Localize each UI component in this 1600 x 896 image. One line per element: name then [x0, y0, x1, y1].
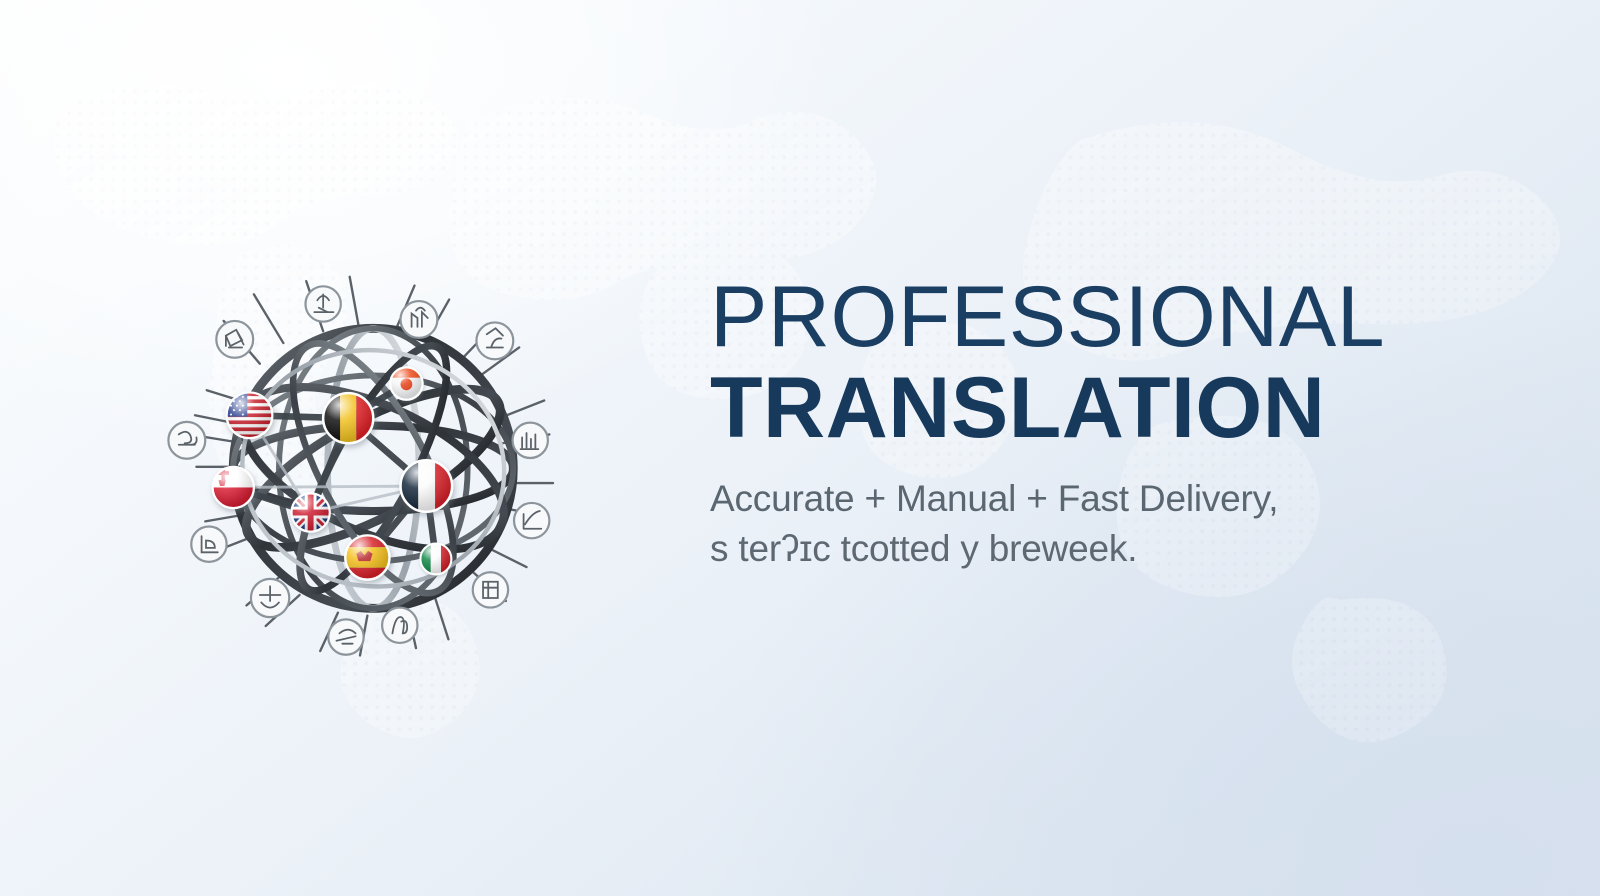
glyph-icon-6[interactable]	[514, 503, 549, 538]
globe-svg	[60, 150, 660, 710]
flag-uk[interactable]	[291, 493, 329, 531]
page-title-line-1: PROFESSIONAL	[710, 276, 1410, 359]
glyph-icon-8[interactable]	[382, 608, 417, 643]
flag-usa[interactable]	[227, 392, 273, 438]
subtitle: Accurate + Manual + Fast Delivery, s ter…	[710, 474, 1410, 574]
glyph-icon-9[interactable]	[328, 619, 363, 654]
globe-illustration	[60, 150, 660, 710]
headline-block: PROFESSIONAL TRANSLATION Accurate + Manu…	[710, 276, 1410, 574]
glyph-icon-7[interactable]	[473, 572, 508, 607]
glyph-icon-10[interactable]	[251, 579, 289, 617]
glyph-icon-2[interactable]	[305, 286, 340, 321]
glyph-icon-1[interactable]	[216, 321, 253, 358]
page-title-line-2: TRANSLATION	[710, 365, 1410, 453]
glyph-icon-12[interactable]	[168, 422, 205, 459]
subtitle-line-1: Accurate + Manual + Fast Delivery,	[710, 474, 1410, 524]
flag-japan[interactable]	[390, 367, 422, 399]
banner-root: PROFESSIONAL TRANSLATION Accurate + Manu…	[0, 0, 1600, 896]
glyph-icon-3[interactable]	[401, 301, 438, 338]
glyph-icon-4[interactable]	[476, 322, 513, 359]
flag-france[interactable]	[401, 460, 453, 512]
glyph-icon-5[interactable]	[513, 423, 548, 458]
flag-belgium[interactable]	[323, 393, 373, 443]
flag-spain[interactable]	[345, 535, 389, 579]
flag-poland[interactable]	[213, 467, 254, 508]
flag-italy[interactable]	[420, 543, 451, 574]
subtitle-line-2: s terʔɪc tcotted y breweek.	[710, 524, 1410, 574]
glyph-icon-11[interactable]	[191, 527, 226, 562]
